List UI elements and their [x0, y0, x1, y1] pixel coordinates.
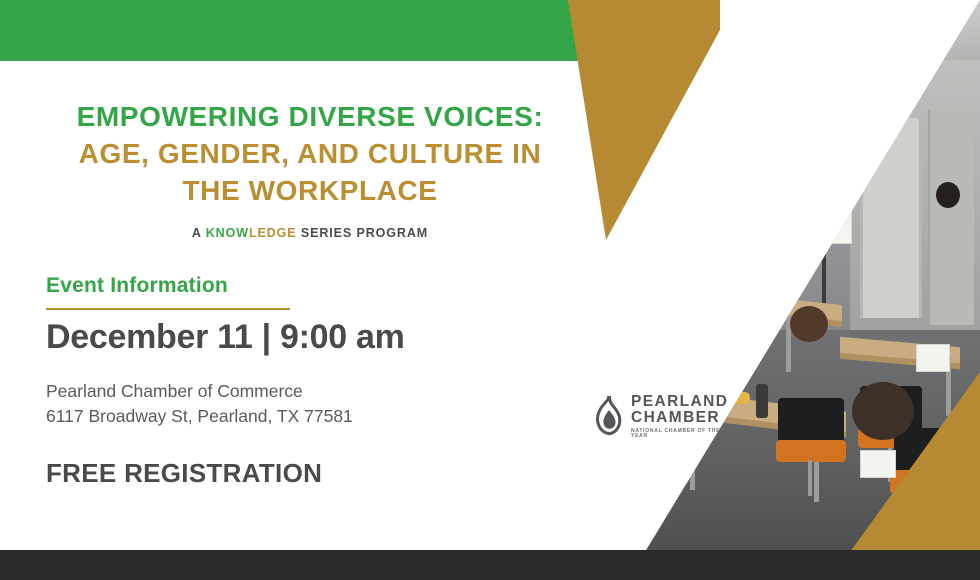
venue-name: Pearland Chamber of Commerce: [46, 381, 303, 401]
logo-tagline: NATIONAL CHAMBER OF THE YEAR: [631, 429, 728, 439]
name-card: [698, 348, 734, 376]
presenter-shirt: [703, 190, 719, 232]
projection-screen-right: Inclusive LEADERSHIP: [728, 33, 882, 152]
screen-script-word: Inclusive: [822, 67, 862, 82]
top-green-bar: [0, 0, 600, 61]
logo-word-chamber: CHAMBER: [631, 410, 728, 426]
bottom-dark-bar: [0, 550, 980, 580]
attendee-head: [684, 286, 714, 316]
event-information-block: Event Information December 11 | 9:00 am …: [46, 274, 620, 489]
logo-word-pearland: PEARLAND: [631, 394, 728, 410]
microphone-stand-head: [816, 206, 840, 230]
kicker-ledge: LEDGE: [249, 226, 297, 240]
screen-headline: LEADERSHIP: [742, 84, 849, 110]
event-datetime: December 11 | 9:00 am: [46, 318, 620, 357]
ceiling-light: [887, 0, 975, 16]
ceiling-light: [754, 4, 885, 26]
presenter-head: [699, 162, 725, 192]
kicker-know: KNOW: [206, 226, 249, 240]
presenter-body: [688, 186, 734, 278]
exit-sign: [844, 36, 868, 49]
water-bottle: [720, 306, 730, 334]
attendee-head: [626, 300, 660, 334]
title-line-2: AGE, GENDER, AND CULTURE IN: [22, 136, 598, 173]
gold-divider: [46, 308, 290, 310]
program-kicker: A KNOWLEDGE SERIES PROGRAM: [0, 226, 620, 240]
wall-clock: [808, 50, 838, 80]
banner-line-2: CHAMBER: [805, 183, 839, 189]
event-information-heading: Event Information: [46, 274, 620, 298]
presenter-hair: [699, 160, 725, 172]
kicker-rest: SERIES PROGRAM: [297, 226, 429, 240]
presenter-legs: [691, 272, 731, 344]
event-venue: Pearland Chamber of Commerce 6117 Broadw…: [46, 379, 620, 430]
pearland-chamber-logo: PEARLAND CHAMBER NATIONAL CHAMBER OF THE…: [594, 394, 726, 438]
venue-address: 6117 Broadway St, Pearland, TX 77581: [46, 406, 353, 426]
pearland-droplet-icon: [594, 396, 624, 436]
banner-line-1: PEARLAND: [805, 173, 848, 180]
title-line-3: THE WORKPLACE: [22, 173, 598, 210]
event-flyer: Inclusive LEADERSHIP: [0, 0, 980, 580]
kicker-a: A: [192, 226, 206, 240]
title-line-1: EMPOWERING DIVERSE VOICES:: [22, 99, 598, 136]
presenter-arm: [714, 195, 741, 241]
screen-content: Inclusive LEADERSHIP: [736, 43, 874, 133]
handheld-microphone: [722, 192, 732, 214]
water-bottle: [684, 366, 694, 394]
logo-wordmark: PEARLAND CHAMBER NATIONAL CHAMBER OF THE…: [631, 394, 728, 439]
projector: [826, 2, 876, 18]
presenter-lapel-pin: [710, 192, 715, 197]
flyer-content: EMPOWERING DIVERSE VOICES: AGE, GENDER, …: [0, 61, 620, 489]
free-registration-label: FREE REGISTRATION: [46, 458, 620, 489]
page-title: EMPOWERING DIVERSE VOICES: AGE, GENDER, …: [0, 61, 620, 210]
diversity-figures: [742, 57, 812, 99]
